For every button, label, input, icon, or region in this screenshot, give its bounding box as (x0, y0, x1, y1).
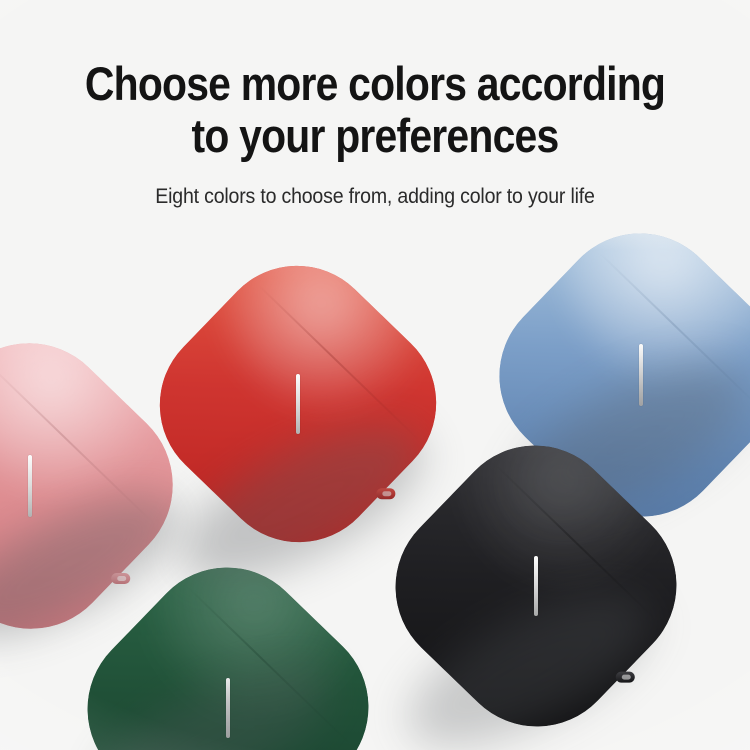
page-title: Choose more colors according to your pre… (49, 58, 702, 162)
led-indicator-slot-pink (28, 455, 32, 517)
page-subtitle: Eight colors to choose from, adding colo… (26, 184, 724, 210)
led-indicator-slot-red (296, 374, 300, 434)
headline-block: Choose more colors according to your pre… (0, 0, 750, 210)
keyring-loop-black[interactable] (616, 672, 635, 683)
product-banner: Choose more colors according to your pre… (0, 0, 750, 750)
led-indicator-slot-black (534, 556, 538, 616)
